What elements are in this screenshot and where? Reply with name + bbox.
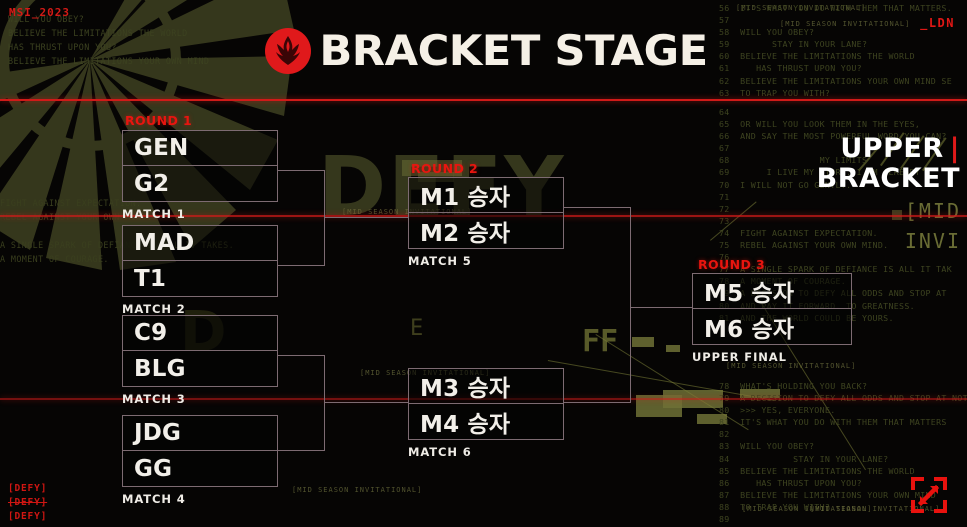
match-3-team-top[interactable]: C9 xyxy=(122,315,278,351)
olive-slash-4 xyxy=(710,201,757,240)
match-2-team-top[interactable]: MAD xyxy=(122,225,278,261)
match-card-6[interactable]: M3 승자 M4 승자 MATCH 6 xyxy=(408,368,564,459)
match-6-team-bottom[interactable]: M4 승자 xyxy=(408,404,564,440)
connector-to-m6 xyxy=(324,402,408,403)
upper-final-label: UPPER FINAL xyxy=(692,350,852,364)
page-title: BRACKET STAGE xyxy=(319,30,707,72)
olive-block-3 xyxy=(666,345,680,352)
mid-invitational-watermark: [MIDINVI xyxy=(905,196,961,256)
mid-season-sub-5: [MID SEASON INVITATIONAL] xyxy=(742,505,872,514)
match-1-team-top[interactable]: GEN xyxy=(122,130,278,166)
upper-final-team-top[interactable]: M5 승자 xyxy=(692,273,852,309)
upper-bracket-title: UPPER| BRACKET xyxy=(700,134,960,194)
e-watermark: E xyxy=(410,316,423,341)
match-5-label: MATCH 5 xyxy=(408,254,564,268)
bracket-stage-screen: DEFY D [MID SEASON INVITATIONAL] [MID SE… xyxy=(0,0,967,527)
upper-bracket-title-bar: | xyxy=(950,133,960,164)
match-card-1[interactable]: GEN G2 MATCH 1 xyxy=(122,130,278,221)
defy-marker-1: [DEFY] xyxy=(8,482,47,496)
upper-bracket-title-line2: BRACKET xyxy=(817,163,960,194)
olive-block-1 xyxy=(632,337,654,347)
olive-slash-1 xyxy=(548,360,775,401)
match-5-team-bottom[interactable]: M2 승자 xyxy=(408,213,564,249)
match-6-team-top[interactable]: M3 승자 xyxy=(408,368,564,404)
match-card-2[interactable]: MAD T1 MATCH 2 xyxy=(122,225,278,316)
connector-to-m5 xyxy=(324,217,408,218)
connector-m5-out xyxy=(564,207,630,208)
upper-final-team-bottom[interactable]: M6 승자 xyxy=(692,309,852,345)
defy-marker-2: [DEFY] xyxy=(8,496,47,510)
match-6-label: MATCH 6 xyxy=(408,445,564,459)
match-4-label: MATCH 4 xyxy=(122,492,278,506)
match-card-4[interactable]: JDG GG MATCH 4 xyxy=(122,415,278,506)
region-tag: _LDN xyxy=(920,16,955,30)
olive-block-6 xyxy=(740,389,780,398)
ff-watermark: FF xyxy=(582,324,618,359)
mid-season-sub-3: [MID SEASON INVITATIONAL] xyxy=(292,486,422,495)
connector-m1m2-join xyxy=(324,170,325,266)
connector-m6-out xyxy=(564,402,630,403)
match-card-upper-final[interactable]: M5 승자 M6 승자 UPPER FINAL xyxy=(692,273,852,364)
connector-m4-out xyxy=(278,450,324,451)
match-2-team-bottom[interactable]: T1 xyxy=(122,261,278,297)
connector-m5m6-join xyxy=(630,207,631,403)
fullscreen-expand-icon[interactable] xyxy=(911,477,947,513)
defy-marker-3: [DEFY] xyxy=(8,510,47,524)
match-1-team-bottom[interactable]: G2 xyxy=(122,166,278,202)
divider-line-top xyxy=(0,99,967,101)
match-1-label: MATCH 1 xyxy=(122,207,278,221)
match-2-label: MATCH 2 xyxy=(122,302,278,316)
phoenix-emblem-icon xyxy=(265,28,311,74)
match-3-team-bottom[interactable]: BLG xyxy=(122,351,278,387)
connector-m3m4-join xyxy=(324,355,325,451)
olive-block-5 xyxy=(697,414,727,424)
upper-bracket-title-line1: UPPER xyxy=(840,133,943,164)
connector-to-upper-final xyxy=(630,307,692,308)
round-label-3: ROUND 3 xyxy=(698,257,765,272)
match-4-team-bottom[interactable]: GG xyxy=(122,451,278,487)
connector-m3-out xyxy=(278,355,324,356)
round-label-1: ROUND 1 xyxy=(125,113,192,128)
match-card-3[interactable]: C9 BLG MATCH 3 xyxy=(122,315,278,406)
defy-marker-stack: [DEFY] [DEFY] [DEFY] xyxy=(8,482,47,524)
connector-m1-out xyxy=(278,170,324,171)
mid-season-sub-7: [MID SEASON INVITATIONAL] xyxy=(736,4,866,13)
round-label-2: ROUND 2 xyxy=(411,161,478,176)
connector-m2-out xyxy=(278,265,324,266)
match-5-team-top[interactable]: M1 승자 xyxy=(408,177,564,213)
match-card-5[interactable]: M1 승자 M2 승자 MATCH 5 xyxy=(408,177,564,268)
match-3-label: MATCH 3 xyxy=(122,392,278,406)
page-header: BRACKET STAGE xyxy=(0,18,967,84)
match-4-team-top[interactable]: JDG xyxy=(122,415,278,451)
event-tag: MSI_2023 xyxy=(9,6,70,19)
